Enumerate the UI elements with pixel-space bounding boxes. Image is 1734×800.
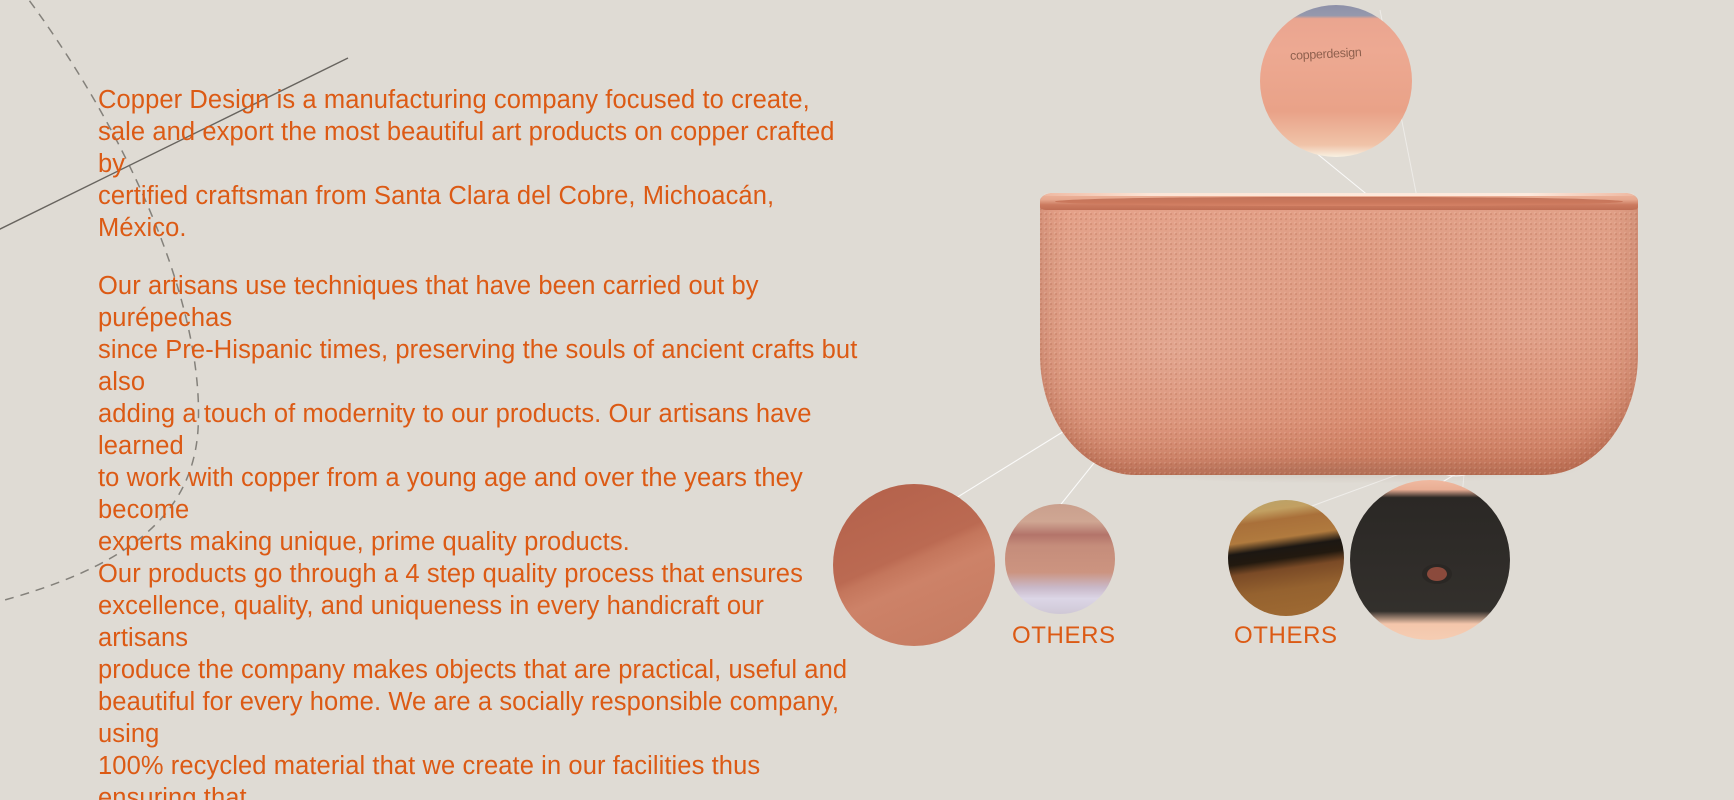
paragraph-spacer (98, 244, 858, 270)
tub-rim-inner (1055, 197, 1623, 206)
callout-brand-stamp-photo: copperdesign (1260, 5, 1412, 157)
callout-workshop-photo (1228, 500, 1344, 616)
page-root: Copper Design is a manufacturing company… (0, 0, 1734, 800)
product-showcase: copperdesign OTHERS OTHERS (860, 0, 1734, 800)
about-text-column: Copper Design is a manufacturing company… (98, 84, 858, 800)
callout-brand-stamp: copperdesign (1260, 5, 1412, 157)
copper-bathtub-image (1040, 193, 1638, 475)
hammered-texture (1040, 193, 1638, 475)
callout-edge-photo (1005, 504, 1115, 614)
callout-drain-photo (1350, 480, 1510, 640)
callout-caption-others-2: OTHERS (1234, 622, 1338, 650)
about-paragraph-3: Our products go through a 4 step quality… (98, 558, 858, 800)
callout-caption-others-1: OTHERS (1012, 622, 1116, 650)
callout-weave-texture (833, 484, 995, 646)
callout-edge-detail (1005, 504, 1115, 614)
callout-weave-photo (833, 484, 995, 646)
about-paragraph-2: Our artisans use techniques that have be… (98, 270, 858, 558)
callout-drain-detail (1350, 480, 1510, 640)
tub-top-highlight (1044, 193, 1634, 196)
tub-body (1040, 193, 1638, 475)
about-paragraph-1: Copper Design is a manufacturing company… (98, 84, 858, 244)
brand-stamp-text: copperdesign (1290, 45, 1362, 63)
drain-plug (1422, 564, 1452, 584)
callout-workshop-detail (1228, 500, 1344, 616)
